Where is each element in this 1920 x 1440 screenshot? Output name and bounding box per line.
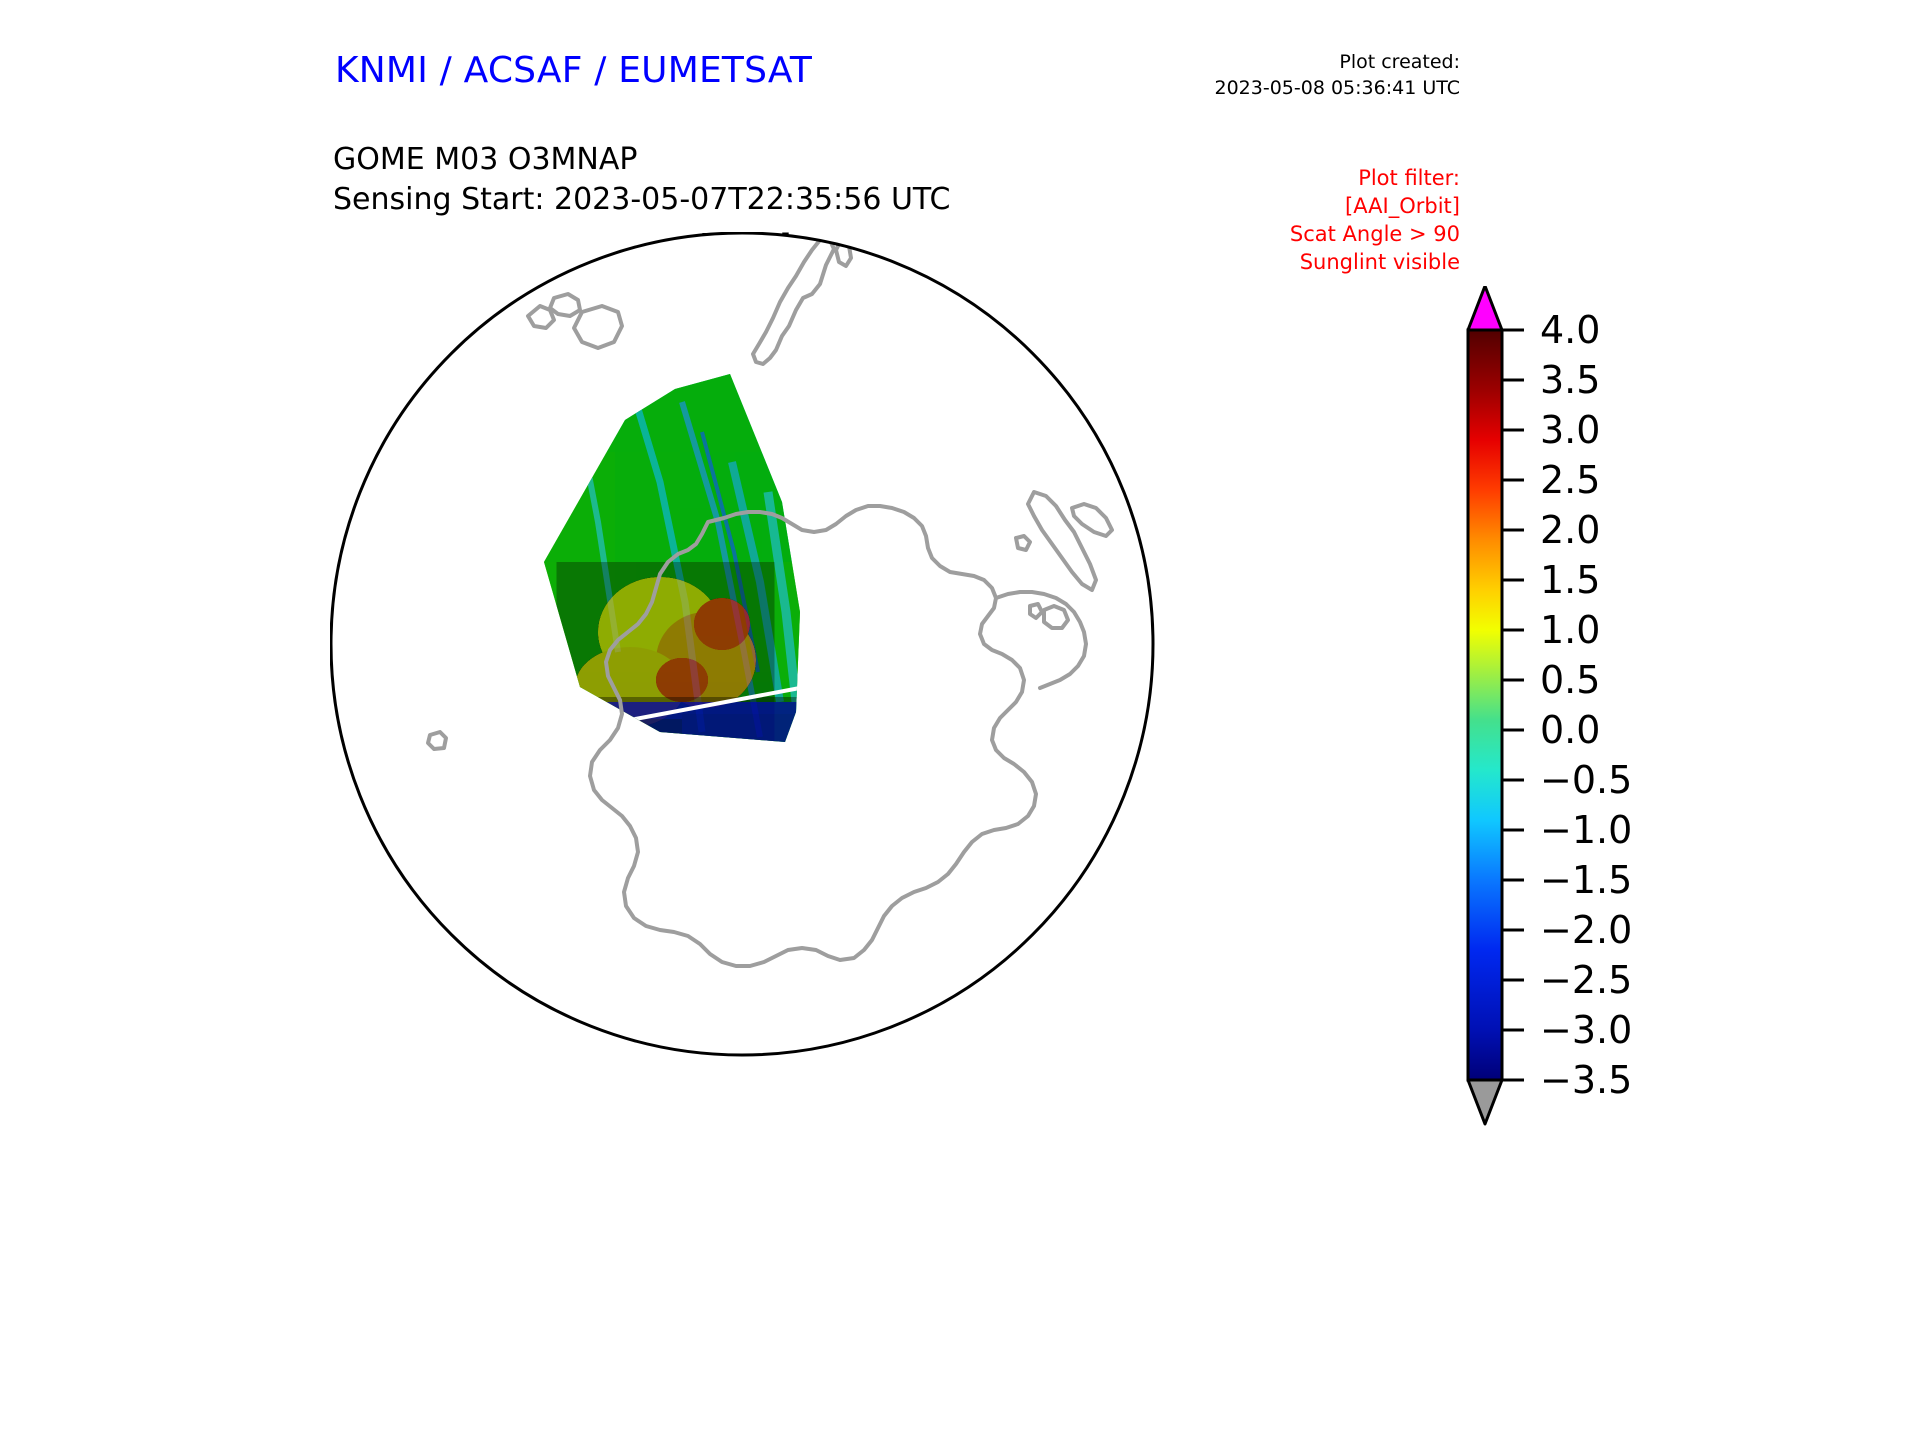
plot-created-block: Plot created: 2023-05-08 05:36:41 UTC xyxy=(1080,50,1460,101)
organisation-title: KNMI / ACSAF / EUMETSAT xyxy=(335,50,812,91)
dataset-sensing-start-line: Sensing Start: 2023-05-07T22:35:56 UTC xyxy=(333,180,950,220)
colorbar-tick-label: 4.0 xyxy=(1540,308,1600,352)
colorbar-svg: 4.03.53.02.52.01.51.00.50.0−0.5−1.0−1.5−… xyxy=(1448,286,1848,1306)
colorbar-over-arrow xyxy=(1468,286,1502,330)
plot-filter-line-1: Plot filter: xyxy=(1180,165,1460,193)
dataset-instrument-line: GOME M03 O3MNAP xyxy=(333,140,950,180)
plot-filter-line-4: Sunglint visible xyxy=(1180,249,1460,277)
colorbar-tick-label: −1.5 xyxy=(1540,858,1632,902)
colorbar-tick-label: −0.5 xyxy=(1540,758,1632,802)
colorbar-tick-label: −2.5 xyxy=(1540,958,1632,1002)
colorbar-gradient xyxy=(1468,330,1502,1080)
colorbar-tick-label: 0.0 xyxy=(1540,708,1600,752)
colorbar-ticks-group: 4.03.53.02.52.01.51.00.50.0−0.5−1.0−1.5−… xyxy=(1502,308,1632,1102)
colorbar-panel: 4.03.53.02.52.01.51.00.50.0−0.5−1.0−1.5−… xyxy=(1448,286,1848,1306)
colorbar-tick-label: 3.5 xyxy=(1540,358,1600,402)
polar-map-svg xyxy=(330,232,1155,1057)
dataset-info-block: GOME M03 O3MNAP Sensing Start: 2023-05-0… xyxy=(333,140,950,220)
colorbar-tick-label: −1.0 xyxy=(1540,808,1632,852)
plot-filter-line-2: [AAI_Orbit] xyxy=(1180,193,1460,221)
colorbar-tick-label: 2.5 xyxy=(1540,458,1600,502)
colorbar-tick-label: 2.0 xyxy=(1540,508,1600,552)
colorbar-tick-label: −2.0 xyxy=(1540,908,1632,952)
plot-filter-line-3: Scat Angle > 90 xyxy=(1180,221,1460,249)
colorbar-tick-label: −3.5 xyxy=(1540,1058,1632,1102)
plot-filter-block: Plot filter: [AAI_Orbit] Scat Angle > 90… xyxy=(1180,165,1460,277)
colorbar-tick-label: 1.0 xyxy=(1540,608,1600,652)
colorbar-tick-label: −3.0 xyxy=(1540,1008,1632,1052)
plot-created-label: Plot created: xyxy=(1080,50,1460,76)
plot-created-timestamp: 2023-05-08 05:36:41 UTC xyxy=(1080,76,1460,102)
polar-map-panel xyxy=(330,232,1155,1057)
colorbar-under-arrow xyxy=(1468,1080,1502,1124)
colorbar-tick-label: 1.5 xyxy=(1540,558,1600,602)
colorbar-tick-label: 0.5 xyxy=(1540,658,1600,702)
colorbar-tick-label: 3.0 xyxy=(1540,408,1600,452)
